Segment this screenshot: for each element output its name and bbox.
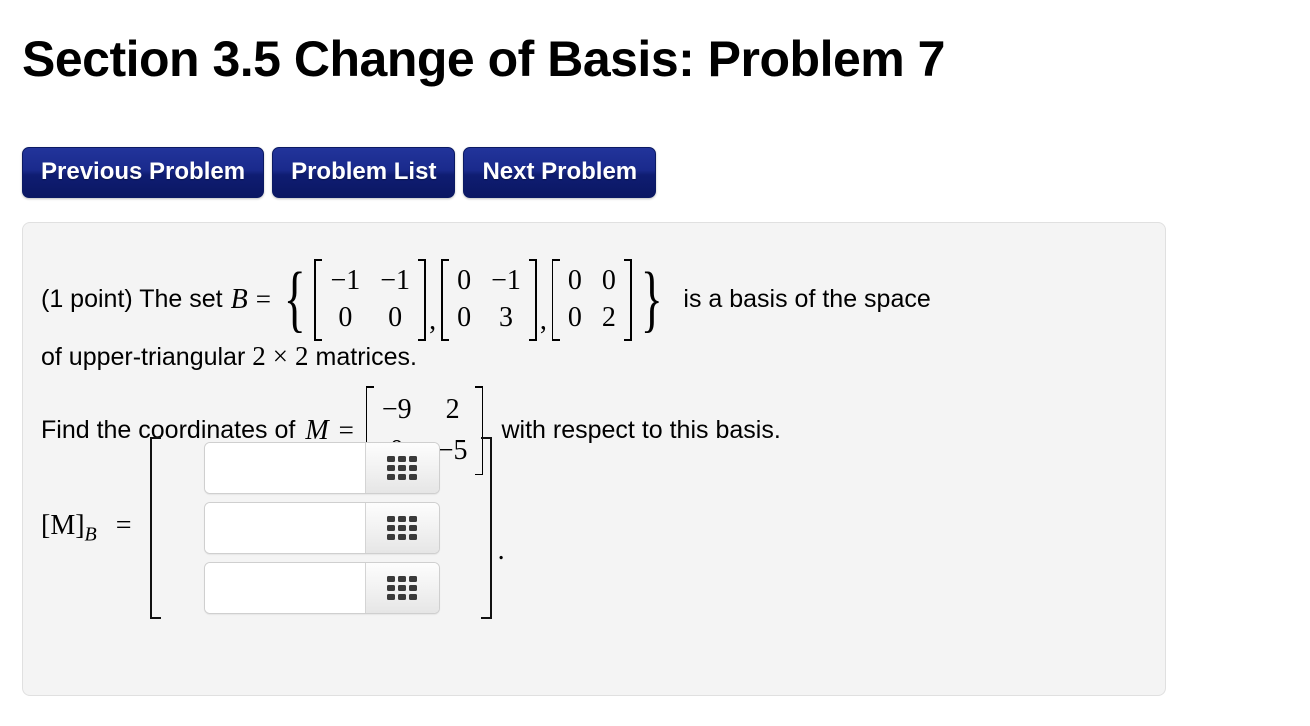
matrix-right-bracket (417, 259, 426, 341)
coordinate-vector-label-subscript: B (85, 523, 97, 545)
matrix-cell: 0 (602, 263, 616, 300)
matrix-separator-comma: , (428, 305, 439, 341)
matrix-cell: 2 (602, 300, 616, 337)
problem-panel: (1 point) The set B = { −1 −1 0 0 , 0 −1… (22, 222, 1166, 696)
problem-list-button[interactable]: Problem List (272, 147, 455, 198)
matrix-cell: 3 (491, 300, 521, 337)
problem-navigation-bar: Previous Problem Problem List Next Probl… (22, 147, 656, 198)
keypad-button-1[interactable] (365, 443, 439, 493)
next-problem-button[interactable]: Next Problem (463, 147, 656, 198)
line3-suffix: with respect to this basis. (485, 416, 780, 445)
matrix-cell: 2 (438, 390, 468, 431)
matrix-cell: −9 (382, 390, 412, 431)
grid-keypad-icon (387, 516, 417, 540)
answer-input-group-3[interactable] (204, 562, 440, 614)
coordinate-vector-label: [M]B = (41, 510, 148, 547)
matrix-cell: −1 (380, 263, 410, 300)
matrix-cell: 0 (457, 263, 471, 300)
times-symbol: × (273, 341, 288, 372)
line2-dim-b: 2 (288, 341, 316, 372)
answer-input-3[interactable] (205, 563, 365, 613)
answer-input-2[interactable] (205, 503, 365, 553)
matrix-cell: 0 (457, 300, 471, 337)
vector-left-bracket (148, 437, 160, 619)
basis-symbol: B (223, 284, 256, 316)
coordinate-vector-label-main: [M] (41, 510, 85, 541)
keypad-button-3[interactable] (365, 563, 439, 613)
problem-statement-line-1: (1 point) The set B = { −1 −1 0 0 , 0 −1… (41, 259, 931, 341)
equals-sign: = (104, 510, 132, 541)
basis-matrix-3: 0 0 0 2 (552, 259, 632, 341)
matrix-left-bracket (441, 259, 450, 341)
page-title: Section 3.5 Change of Basis: Problem 7 (22, 32, 945, 87)
answer-input-group-1[interactable] (204, 442, 440, 494)
points-label: (1 point) The set (41, 285, 223, 314)
line2-prefix: of upper-triangular (41, 343, 245, 372)
problem-statement-line-2: of upper-triangular 2 × 2 matrices. (41, 341, 417, 372)
answer-input-group-2[interactable] (204, 502, 440, 554)
matrix-cell: 0 (330, 300, 360, 337)
line2-dim-a: 2 (245, 341, 273, 372)
matrix-cell: 0 (568, 263, 582, 300)
basis-matrix-1: −1 −1 0 0 (314, 259, 426, 341)
grid-keypad-icon (387, 576, 417, 600)
coordinate-vector (148, 437, 494, 619)
answer-input-1[interactable] (205, 443, 365, 493)
matrix-right-bracket (528, 259, 537, 341)
vector-right-bracket (482, 437, 494, 619)
matrix-cell: −1 (491, 263, 521, 300)
matrix-left-bracket (552, 259, 561, 341)
grid-keypad-icon (387, 456, 417, 480)
basis-matrix-2: 0 −1 0 3 (441, 259, 537, 341)
answer-fields-stack (204, 437, 440, 619)
matrix-separator-comma: , (539, 305, 550, 341)
line2-suffix: matrices. (316, 343, 417, 372)
set-open-brace: { (284, 273, 306, 326)
matrix-right-bracket (623, 259, 632, 341)
keypad-button-2[interactable] (365, 503, 439, 553)
matrix-cell: 0 (380, 300, 410, 337)
matrix-cell: 0 (568, 300, 582, 337)
set-close-brace: } (641, 273, 663, 326)
equals-sign: = (256, 284, 277, 315)
answer-area: [M]B = (41, 437, 505, 619)
trailing-period: . (494, 535, 505, 619)
statement-tail-line-1: is a basis of the space (669, 285, 930, 314)
matrix-left-bracket (314, 259, 323, 341)
matrix-cell: −1 (330, 263, 360, 300)
previous-problem-button[interactable]: Previous Problem (22, 147, 264, 198)
